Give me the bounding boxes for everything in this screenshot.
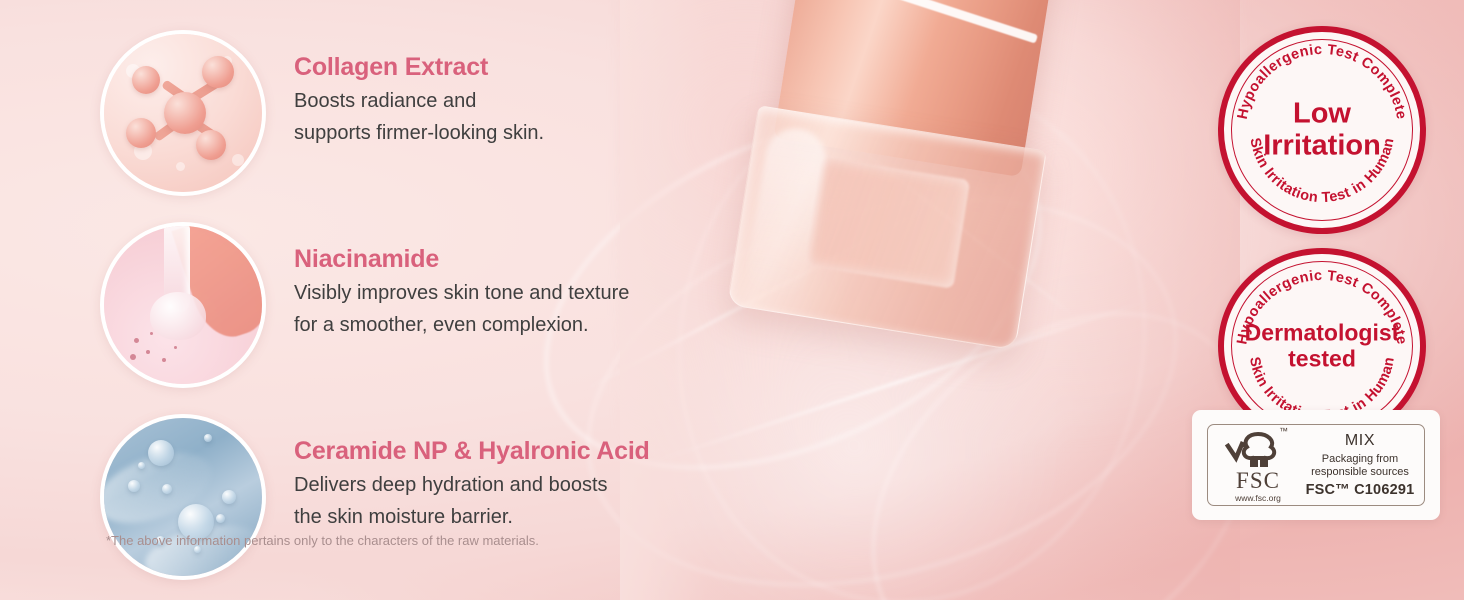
feature-desc-line: Boosts radiance and bbox=[294, 86, 544, 118]
feature-desc-line: supports firmer-looking skin. bbox=[294, 118, 544, 150]
gel-highlight-streak bbox=[805, 106, 1075, 318]
fsc-sub-line-1: Packaging from bbox=[1302, 453, 1418, 466]
feature-item-ceramide: Ceramide NP & Hyalronic Acid Delivers de… bbox=[100, 414, 740, 580]
fsc-details: MIX Packaging from responsible sources F… bbox=[1302, 432, 1418, 499]
product-bottle: overnight 75 ml / 2.53 fl. oz. bbox=[712, 0, 1096, 408]
feature-title: Ceramide NP & Hyalronic Acid bbox=[294, 436, 650, 466]
feature-text-collagen: Collagen Extract Boosts radiance and sup… bbox=[294, 30, 544, 149]
product-ingredient-banner: overnight 75 ml / 2.53 fl. oz. bbox=[0, 0, 1464, 600]
feature-title: Collagen Extract bbox=[294, 52, 544, 82]
bottle-cap bbox=[727, 105, 1047, 350]
fsc-trademark-symbol: ™ bbox=[1279, 426, 1288, 436]
badge-center-line: Irritation bbox=[1224, 130, 1420, 162]
fsc-inner-frame: ™ FSC www.fsc.org MIX Packaging from res… bbox=[1207, 424, 1425, 506]
feature-desc-line: for a smoother, even complexion. bbox=[294, 310, 629, 342]
feature-description: Delivers deep hydration and boosts the s… bbox=[294, 470, 650, 533]
feature-item-collagen: Collagen Extract Boosts radiance and sup… bbox=[100, 30, 740, 196]
fsc-wordmark: FSC bbox=[1214, 469, 1302, 492]
badge-center-line: tested bbox=[1224, 346, 1420, 372]
badge-low-irritation: Hypoallergenic Test Complete Skin Irrita… bbox=[1218, 26, 1426, 234]
fsc-license-code: FSC™ C106291 bbox=[1302, 482, 1418, 498]
feature-desc-line: the skin moisture barrier. bbox=[294, 502, 650, 534]
feature-text-niacinamide: Niacinamide Visibly improves skin tone a… bbox=[294, 222, 629, 341]
badge-center-text: Dermatologist tested bbox=[1224, 320, 1420, 372]
footnote-text: *The above information pertains only to … bbox=[106, 533, 539, 548]
bottle-body bbox=[773, 0, 1072, 177]
fsc-logo: ™ FSC www.fsc.org bbox=[1214, 428, 1302, 503]
badge-center-text: Low Irritation bbox=[1224, 98, 1420, 163]
bottle-stripe bbox=[805, 0, 1038, 44]
ingredient-feature-list: Collagen Extract Boosts radiance and sup… bbox=[100, 30, 740, 600]
cap-inner-reflection bbox=[805, 157, 970, 289]
fsc-mix-label: MIX bbox=[1302, 432, 1418, 450]
feature-description: Visibly improves skin tone and texture f… bbox=[294, 278, 629, 341]
feature-description: Boosts radiance and supports firmer-look… bbox=[294, 86, 544, 149]
niacinamide-dropper-icon bbox=[100, 222, 266, 388]
certification-badges: Hypoallergenic Test Complete Skin Irrita… bbox=[1218, 26, 1428, 458]
feature-title: Niacinamide bbox=[294, 244, 629, 274]
fsc-certification-box: ™ FSC www.fsc.org MIX Packaging from res… bbox=[1192, 410, 1440, 520]
feature-text-ceramide: Ceramide NP & Hyalronic Acid Delivers de… bbox=[294, 414, 650, 533]
badge-center-line: Low bbox=[1224, 98, 1420, 130]
collagen-molecule-icon bbox=[100, 30, 266, 196]
feature-desc-line: Visibly improves skin tone and texture bbox=[294, 278, 629, 310]
feature-desc-line: Delivers deep hydration and boosts bbox=[294, 470, 650, 502]
fsc-sub-line-2: responsible sources bbox=[1302, 466, 1418, 479]
fsc-url: www.fsc.org bbox=[1214, 493, 1302, 503]
badge-center-line: Dermatologist bbox=[1224, 320, 1420, 346]
cap-gloss bbox=[744, 124, 830, 301]
fsc-tree-checkmark-icon: ™ bbox=[1214, 428, 1302, 468]
feature-item-niacinamide: Niacinamide Visibly improves skin tone a… bbox=[100, 222, 740, 388]
water-droplets-icon bbox=[100, 414, 266, 580]
